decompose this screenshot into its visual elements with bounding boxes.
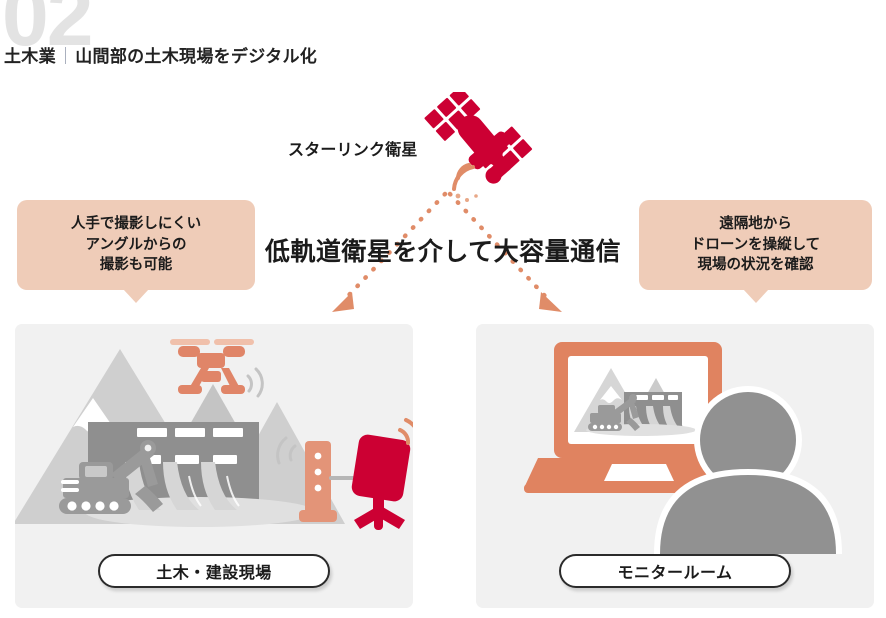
- callout-right-text: 遠隔地から ドローンを操縦して 現場の状況を確認: [691, 214, 820, 276]
- callout-left-text: 人手で撮影しにくい アングルからの 撮影も可能: [71, 214, 201, 276]
- page-title-subtitle: 山間部の土木現場をデジタル化: [75, 47, 317, 66]
- drone-icon: [170, 339, 262, 396]
- construction-site-illustration: [15, 324, 413, 554]
- page-title: 土木業｜山間部の土木現場をデジタル化: [4, 42, 317, 67]
- arrow-head-left: [332, 292, 354, 312]
- callout-left-line-2: アングルからの: [71, 235, 201, 256]
- callout-right-line-1: 遠隔地から: [691, 214, 820, 235]
- callout-right-line-2: ドローンを操縦して: [691, 235, 820, 256]
- callout-left-line-3: 撮影も可能: [71, 255, 201, 276]
- callout-left-tail: [123, 289, 149, 303]
- satellite-label: スターリンク衛星: [288, 136, 418, 160]
- panel-construction-site-label: 土木・建設現場: [98, 554, 330, 588]
- monitor-room-illustration: [476, 324, 874, 554]
- satellite-dish-icon: [350, 420, 413, 530]
- slide-canvas: 02 土木業｜山間部の土木現場をデジタル化 スターリンク衛星: [0, 0, 886, 618]
- panel-monitor-room-label: モニタールーム: [559, 554, 791, 588]
- arrow-head-right: [539, 292, 562, 312]
- page-title-industry: 土木業: [4, 47, 56, 66]
- page-title-separator: ｜: [56, 47, 75, 66]
- callout-left: 人手で撮影しにくい アングルからの 撮影も可能: [17, 200, 255, 290]
- callout-right: 遠隔地から ドローンを操縦して 現場の状況を確認: [639, 200, 872, 290]
- callout-right-tail: [743, 289, 769, 303]
- panel-construction-site: 土木・建設現場: [15, 324, 413, 608]
- callout-right-line-3: 現場の状況を確認: [691, 255, 820, 276]
- panel-monitor-room: モニタールーム: [476, 324, 874, 608]
- callout-left-line-1: 人手で撮影しにくい: [71, 214, 201, 235]
